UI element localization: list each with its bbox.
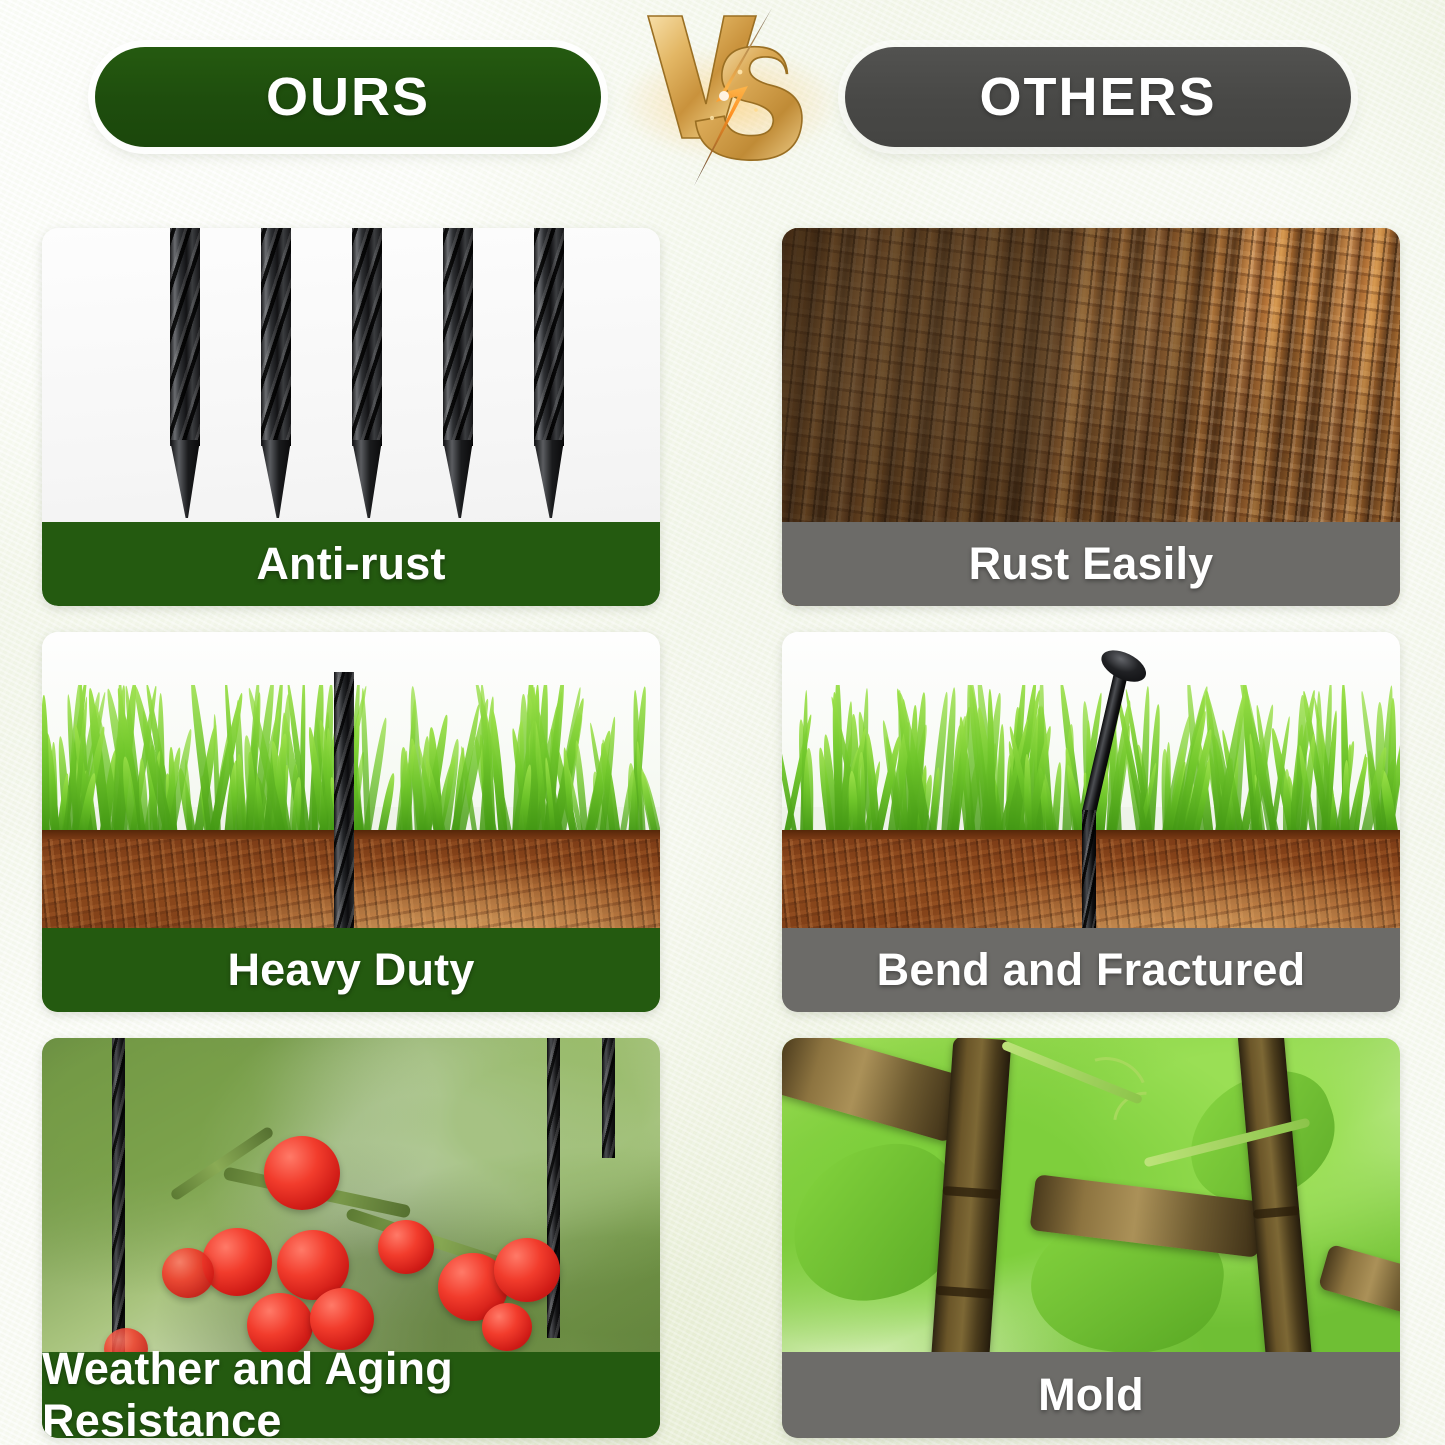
caption-text: Bend and Fractured xyxy=(877,944,1306,996)
caption-text: Weather and Aging Resistance xyxy=(42,1343,660,1438)
card-others-bend-fractured: Bend and Fractured xyxy=(782,632,1400,1012)
caption-rust-easily: Rust Easily xyxy=(782,522,1400,606)
caption-text: Heavy Duty xyxy=(227,944,474,996)
caption-weather-aging: Weather and Aging Resistance xyxy=(42,1352,660,1438)
others-badge: OTHERS xyxy=(845,47,1351,147)
grass-blade xyxy=(803,748,814,838)
card-others-mold: Mold xyxy=(782,1038,1400,1438)
ours-badge: OURS xyxy=(95,47,601,147)
vs-icon xyxy=(620,0,840,200)
others-badge-label: OTHERS xyxy=(979,66,1216,128)
grass-blade xyxy=(1283,769,1291,837)
vs-emblem xyxy=(620,0,840,200)
card-others-rust-easily: Rust Easily xyxy=(782,228,1400,606)
card-ours-weather-aging: Weather and Aging Resistance xyxy=(42,1038,660,1438)
caption-mold: Mold xyxy=(782,1352,1400,1438)
bamboo-pole xyxy=(782,1038,968,1143)
support-stake xyxy=(112,1038,125,1358)
caption-text: Anti-rust xyxy=(256,538,445,590)
black-stake xyxy=(334,672,354,972)
caption-anti-rust: Anti-rust xyxy=(42,522,660,606)
caption-heavy-duty: Heavy Duty xyxy=(42,928,660,1012)
caption-text: Rust Easily xyxy=(969,538,1214,590)
card-ours-heavy-duty: Heavy Duty xyxy=(42,632,660,1012)
grass-blade xyxy=(42,695,50,837)
bamboo-pole xyxy=(1318,1244,1400,1319)
caption-text: Mold xyxy=(1038,1369,1144,1421)
grass-blade xyxy=(377,773,397,838)
card-ours-anti-rust: Anti-rust xyxy=(42,228,660,606)
ours-badge-label: OURS xyxy=(266,66,430,128)
comparison-header: OURS xyxy=(0,0,1445,200)
support-stake xyxy=(602,1038,615,1158)
caption-bend-fractured: Bend and Fractured xyxy=(782,928,1400,1012)
